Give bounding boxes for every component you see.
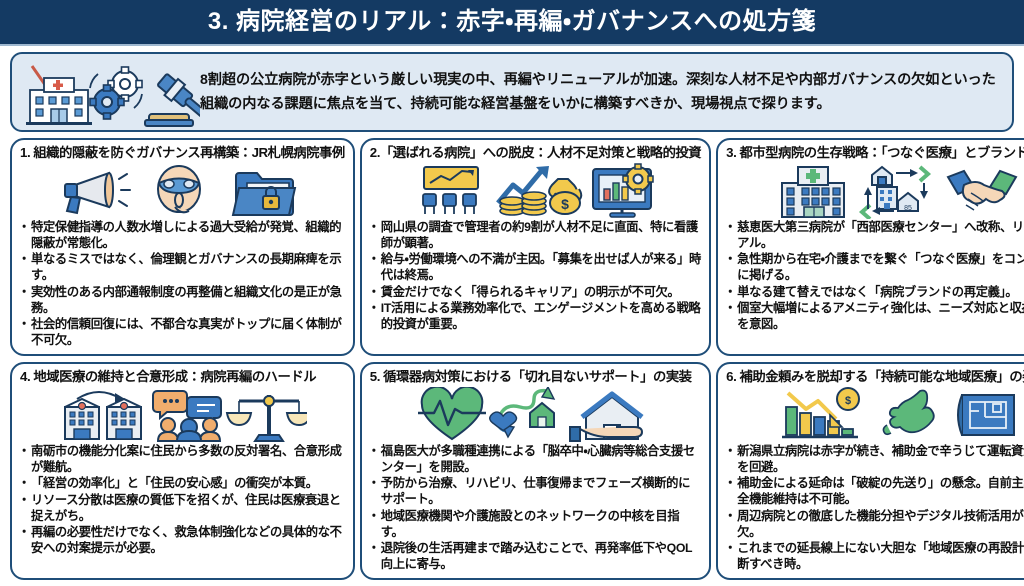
intro-banner: 8割超の公立病院が赤字という厳しい現実の中、再編やリニューアルが加速。深刻な人材… — [10, 52, 1014, 132]
card-2-icon-group: $ — [410, 163, 660, 219]
blueprint-icon — [958, 395, 1014, 435]
gavel-icon — [145, 71, 200, 126]
card-3: 3. 都市型病院の生存戦略：「つなぐ医療」とブランド再定義 — [716, 138, 1024, 356]
slide-root: 3. 病院経営のリアル：赤字・再編・ガバナンスへの処方箋 — [0, 0, 1024, 559]
card-4-title: 4. 地域医療の維持と合意形成：病院再編のハードル — [20, 369, 345, 385]
list-item: 新潟県立病院は赤字が続き、補助金で辛うじて運転資金枯渇を回避。 — [726, 444, 1024, 476]
list-item: 「経営の効率化」と「住民の安心感」の衝突が本質。 — [20, 476, 345, 492]
list-item: 地域医療機関や介護施設とのネットワークの中核を目指す。 — [370, 509, 701, 541]
card-2-icons: $ — [370, 162, 701, 220]
card-2-bullets: 岡山県の調査で管理者の約9割が人材不足に直面、特に看護師が顕著。 給与・労働環境… — [370, 220, 701, 350]
list-item: 退院後の生活再建まで踏み込むことで、再発率低下やQOL向上に寄与。 — [370, 541, 701, 573]
list-item: リソース分散は医療の質低下を招くが、住民は医療衰退と捉えがち。 — [20, 493, 345, 525]
list-item: 給与・労働環境への不満が主因。「募集を出せば人が来る」時代は終焉。 — [370, 252, 701, 284]
list-item: 単なる建て替えではなく「病院ブランドの再定義」。 — [726, 285, 1024, 301]
gears-icon — [90, 67, 142, 119]
card-1: 1. 組織的隠蔽を防ぐガバナンス再構築：JR札幌病院事例 — [10, 138, 355, 356]
hospital-green-cross-icon — [782, 167, 844, 217]
list-item: 実効性のある内部通報制度の再整備と組織文化の是正が急務。 — [20, 285, 345, 317]
empty-chairs-chart-icon — [423, 167, 478, 214]
balance-scale-icon — [227, 395, 307, 441]
card-6-bullets: 新潟県立病院は赤字が続き、補助金で辛うじて運転資金枯渇を回避。 補助金による延命… — [726, 444, 1024, 574]
bullet-text-tail: 断すべき時。 — [737, 557, 808, 571]
svg-text:$: $ — [562, 196, 570, 212]
card-2-title: 2.「選ばれる病院」への脱皮：人材不足対策と戦略的投資 — [370, 145, 701, 161]
list-item: 急性期から在宅・介護までを繋ぐ「つなぐ医療」をコンセプトに掲げる。 — [726, 252, 1024, 284]
card-3-bullets: 慈恵医大第三病院が「西部医療センター」へ改称、リニューアル。 急性期から在宅・介… — [726, 220, 1024, 350]
card-6: 6. 補助金頼みを脱却する「持続可能な地域医療」の姿 — [716, 362, 1024, 580]
megaphone-icon — [65, 173, 130, 213]
hand-holding-home-icon — [570, 394, 642, 441]
intro-banner-icons — [22, 56, 200, 128]
japan-map-icon — [883, 390, 933, 434]
care-network-flow-icon: 85 — [862, 167, 928, 219]
slide-header: 3. 病院経営のリアル：赤字・再編・ガバナンスへの処方箋 — [0, 0, 1024, 46]
intro-banner-text: 8割超の公立病院が赤字という厳しい現実の中、再編やリニューアルが加速。深刻な人材… — [200, 68, 1002, 117]
growth-arrow-money-icon: $ — [498, 166, 581, 215]
declining-bar-chart-money-icon: $ — [782, 388, 859, 437]
card-6-icons: $ — [726, 386, 1024, 444]
list-item: 再編の必要性だけでなく、救急体制強化などの具体的な不安への対案提示が必要。 — [20, 525, 345, 557]
silence-mask-icon — [158, 166, 200, 212]
hospital-merge-icon — [65, 392, 141, 439]
card-5-title: 5. 循環器病対策における「切れ目ないサポート」の実装 — [370, 369, 701, 385]
list-item: 慈恵医大第三病院が「西部医療センター」へ改称、リニューアル。 — [726, 220, 1024, 252]
locked-folder-icon — [233, 173, 295, 215]
banner-icon-group — [22, 56, 200, 128]
list-item: 単なるミスではなく、倫理観とガバナンスの長期麻痺を示す。 — [20, 252, 345, 284]
svg-text:$: $ — [844, 395, 850, 407]
card-6-icon-group: $ — [772, 387, 1022, 443]
list-item: 周辺病院との徹底した機能分担やデジタル技術活用が不可欠。 — [726, 509, 1024, 541]
card-2: 2.「選ばれる病院」への脱皮：人材不足対策と戦略的投資 — [360, 138, 711, 356]
list-item: 岡山県の調査で管理者の約9割が人材不足に直面、特に看護師が顕著。 — [370, 220, 701, 252]
card-5-icons — [370, 386, 701, 444]
list-item: 特定保健指導の人数水増しによる過大受給が発覚、組織的隠蔽が常態化。 — [20, 220, 345, 252]
heart-ecg-icon — [418, 387, 486, 439]
list-item: IT活用による業務効率化で、エンゲージメントを高める戦略的投資が重要。 — [370, 301, 701, 333]
card-1-icon-group — [57, 163, 307, 219]
cards-grid: 1. 組織的隠蔽を防ぐガバナンス再構築：JR札幌病院事例 — [0, 136, 1024, 586]
list-item: 補助金による延命は「破綻の先送り」の懸念。自前主義での全機能維持は不可能。 — [726, 476, 1024, 508]
continuous-care-flow-icon — [490, 387, 554, 437]
card-5-bullets: 福島医大が多職種連携による「脳卒中・心臓病等総合支援センター」を開設。 予防から… — [370, 444, 701, 574]
card-4: 4. 地域医療の維持と合意形成：病院再編のハードル — [10, 362, 355, 580]
card-3-icons: 85 — [726, 162, 1024, 220]
card-1-bullets: 特定保健指導の人数水増しによる過大受給が発覚、組織的隠蔽が常態化。 単なるミスで… — [20, 220, 345, 350]
list-item: 社会的信頼回復には、不都合な真実がトップに届く体制が不可欠。 — [20, 317, 345, 349]
svg-text:85: 85 — [904, 205, 912, 212]
list-item: 福島医大が多職種連携による「脳卒中・心臓病等総合支援センター」を開設。 — [370, 444, 701, 476]
page-title: 3. 病院経営のリアル：赤字・再編・ガバナンスへの処方箋 — [208, 10, 816, 34]
monitor-gear-icon — [593, 164, 653, 217]
handshake-icon — [948, 171, 1016, 210]
card-6-title: 6. 補助金頼みを脱却する「持続可能な地域医療」の姿 — [726, 369, 1024, 385]
list-item: 予防から治療、リハビリ、仕事復帰までフェーズ横断的にサポート。 — [370, 476, 701, 508]
card-4-icon-group — [57, 387, 307, 443]
list-item: 個室大幅増によるアメニティ強化は、ニーズ対応と収益改善を意図。 — [726, 301, 1024, 333]
bullet-text-normal: これまでの延長線上にない大胆な「地域医療の再設計」 — [737, 541, 1024, 555]
intro-banner-wrap: 8割超の公立病院が赤字という厳しい現実の中、再編やリニューアルが加速。深刻な人材… — [0, 46, 1024, 136]
people-discussion-icon — [153, 391, 221, 441]
hospital-icon — [26, 78, 92, 125]
card-4-bullets: 南砺市の機能分化案に住民から多数の反対署名、合意形成が難航。 「経営の効率化」と… — [20, 444, 345, 574]
card-5-icon-group — [410, 387, 660, 443]
card-3-title: 3. 都市型病院の生存戦略：「つなぐ医療」とブランド再定義 — [726, 145, 1024, 161]
list-item: 賃金だけでなく「得られるキャリア」の明示が不可欠。 — [370, 285, 701, 301]
card-1-icons — [20, 162, 345, 220]
list-item-overflow: これまでの延長線上にない大胆な「地域医療の再設計」を決断すべき時。 — [726, 541, 1024, 573]
card-4-icons — [20, 386, 345, 444]
card-3-icon-group: 85 — [772, 163, 1022, 219]
card-1-title: 1. 組織的隠蔽を防ぐガバナンス再構築：JR札幌病院事例 — [20, 145, 345, 161]
card-5: 5. 循環器病対策における「切れ目ないサポート」の実装 — [360, 362, 711, 580]
list-item: 南砺市の機能分化案に住民から多数の反対署名、合意形成が難航。 — [20, 444, 345, 476]
